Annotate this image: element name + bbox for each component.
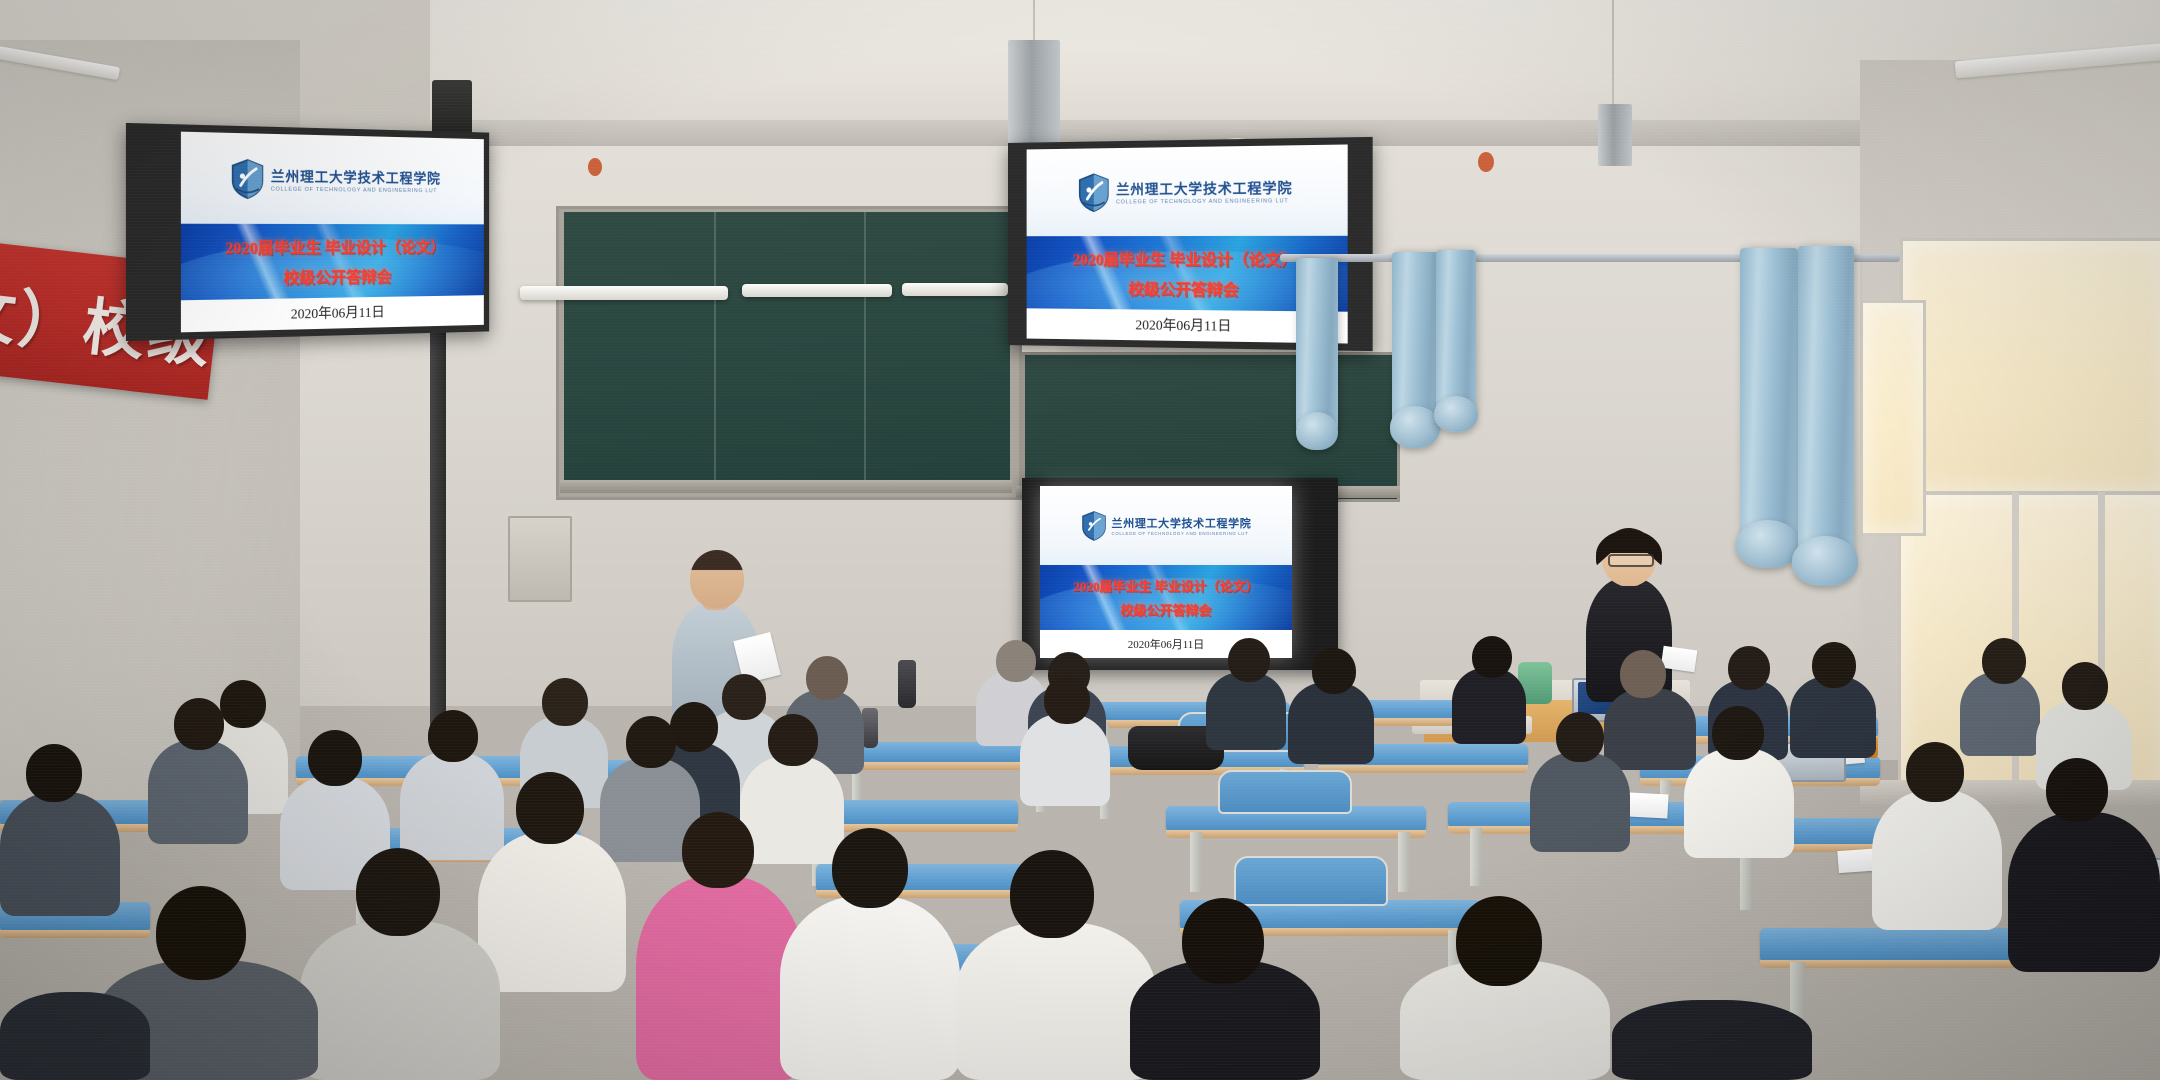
attendee-head [1712, 706, 1764, 760]
curtain-knot [1390, 406, 1440, 448]
attendee-body [1604, 688, 1696, 770]
electrical-panel [508, 516, 572, 602]
mount-wire [1033, 0, 1035, 44]
chair-back [1234, 856, 1388, 906]
attendee-head [308, 730, 362, 786]
wall-speaker [1478, 152, 1494, 172]
desk-leg [1398, 832, 1410, 892]
attendee-head [626, 716, 676, 768]
attendee-head [542, 678, 588, 726]
attendee-head [1620, 650, 1666, 698]
wall-speaker [588, 158, 602, 176]
slide-title-line2: 校级公开答辩会 [1120, 600, 1211, 619]
attendee-head [722, 674, 766, 720]
window-upper-right [1900, 238, 2160, 494]
attendee-body [1020, 714, 1110, 806]
classroom-photo-scene: 文）校级公开 兰州理工大学技术工程学院 COLLEGE OF TECHNOLO [0, 0, 2160, 1080]
attendee-body [1288, 682, 1374, 764]
attendee-head [2046, 758, 2108, 822]
slide-university-en: COLLEGE OF TECHNOLOGY AND ENGINEERING LU… [1112, 531, 1252, 536]
attendee-body [1530, 752, 1630, 852]
glasses-icon [1608, 554, 1654, 567]
slide-title-line2: 校级公开答辩会 [284, 263, 392, 288]
center-projection-screen[interactable]: 兰州理工大学技术工程学院 COLLEGE OF TECHNOLOGY AND E… [1040, 486, 1292, 658]
attendee-body [400, 752, 504, 860]
curtain-knot [1792, 536, 1858, 586]
attendee-head [428, 710, 478, 762]
attendee-head [1906, 742, 1964, 802]
attendee-head [1228, 638, 1270, 682]
slide-title-line1: 2020届毕业生 毕业设计（论文） [225, 234, 445, 259]
attendee-head [1044, 676, 1090, 724]
slide-university-cn: 兰州理工大学技术工程学院 [271, 166, 441, 188]
slide-content: 兰州理工大学技术工程学院 COLLEGE OF TECHNOLOGY AND E… [181, 132, 484, 333]
slide-title-line2: 校级公开答辩会 [1128, 276, 1238, 301]
slide-title-band: 2020届毕业生 毕业设计（论文） 校级公开答辩会 [181, 224, 484, 300]
attendee-body [780, 896, 960, 1080]
slide-title-band: 2020届毕业生 毕业设计（论文） 校级公开答辩会 [1040, 565, 1292, 630]
attendee-body [0, 792, 120, 916]
university-crest-icon [1081, 511, 1107, 541]
staff-papers [1661, 646, 1698, 673]
slide-title-line1: 2020届毕业生 毕业设计（论文） [1073, 576, 1258, 595]
blackboard-light-bar [902, 283, 1008, 296]
attendee-head [1812, 642, 1856, 688]
university-crest-icon [230, 158, 264, 199]
slide-header: 兰州理工大学技术工程学院 COLLEGE OF TECHNOLOGY AND E… [181, 132, 484, 225]
attendee-head [682, 812, 754, 888]
window-curtain[interactable] [1798, 246, 1854, 562]
slide-university-cn: 兰州理工大学技术工程学院 [1112, 515, 1252, 531]
attendee-head [2062, 662, 2108, 710]
attendee-body [1872, 790, 2002, 930]
attendee-head [174, 698, 224, 750]
attendee-head [1010, 850, 1094, 938]
attendee-body [1960, 672, 2040, 756]
attendee-head [26, 744, 82, 802]
left-wall-monitor[interactable]: 兰州理工大学技术工程学院 COLLEGE OF TECHNOLOGY AND E… [126, 123, 489, 341]
window-curtain[interactable] [1296, 258, 1338, 436]
blackboard-light-bar [520, 286, 728, 300]
attendee-head [1312, 648, 1356, 694]
attendee-body [636, 876, 804, 1080]
attendee-body [300, 920, 500, 1080]
attendee-head [806, 656, 848, 700]
attendee-head [1182, 898, 1264, 984]
attendee-head [516, 772, 584, 844]
attendee-body [1684, 748, 1794, 858]
projector-ceiling-mount [1598, 104, 1632, 166]
attendee-body [1452, 668, 1526, 744]
slide-title-line1: 2020届毕业生 毕业设计（论文） [1073, 246, 1297, 271]
attendee-body [148, 740, 248, 844]
attendee-body [478, 832, 626, 992]
slide-date: 2020年06月11日 [1128, 636, 1205, 652]
attendee-body [1790, 676, 1876, 758]
attendee-head [1472, 636, 1512, 678]
slide-header: 兰州理工大学技术工程学院 COLLEGE OF TECHNOLOGY AND E… [1027, 144, 1348, 236]
blackboard [564, 212, 1010, 488]
attendee-body [2008, 812, 2160, 972]
chair-back [1218, 770, 1352, 814]
attendee-head [356, 848, 440, 936]
attendee-head [220, 680, 266, 728]
slide-content: 兰州理工大学技术工程学院 COLLEGE OF TECHNOLOGY AND E… [1040, 486, 1292, 658]
slide-university-en: COLLEGE OF TECHNOLOGY AND ENGINEERING LU… [271, 186, 441, 194]
curtain-knot [1736, 520, 1800, 568]
left-monitor-display: 兰州理工大学技术工程学院 COLLEGE OF TECHNOLOGY AND E… [181, 132, 484, 333]
attendee-head [1728, 646, 1770, 690]
attendee-head [1982, 638, 2026, 684]
window-curtain[interactable] [1392, 252, 1440, 430]
attendee-head [1556, 712, 1604, 762]
slide-date: 2020年06月11日 [1135, 315, 1231, 336]
slide-date: 2020年06月11日 [291, 302, 385, 324]
slide-university-en: COLLEGE OF TECHNOLOGY AND ENGINEERING LU… [1116, 198, 1292, 205]
water-bottle [862, 708, 878, 748]
window-curtain[interactable] [1436, 250, 1476, 416]
attendee-head [670, 702, 718, 752]
attendee-head [768, 714, 818, 766]
window-curtain[interactable] [1740, 248, 1798, 548]
attendee-head [1456, 896, 1542, 986]
presenter-head [690, 550, 744, 608]
attendee-body [1612, 1000, 1812, 1080]
slide-header: 兰州理工大学技术工程学院 COLLEGE OF TECHNOLOGY AND E… [1040, 486, 1292, 565]
curtain-knot [1296, 412, 1338, 450]
attendee-head [832, 828, 908, 908]
curtain-knot [1434, 396, 1478, 432]
chalk-tray [560, 480, 1012, 493]
desk-leg [1190, 832, 1202, 892]
attendee-body [0, 992, 150, 1080]
wall-pipe [430, 316, 446, 736]
slide-university-cn: 兰州理工大学技术工程学院 [1116, 177, 1292, 199]
slide-date-area: 2020年06月11日 [181, 295, 484, 332]
window-far-right [1860, 300, 1926, 536]
pendant-wire [1612, 0, 1614, 108]
attendee-head [996, 640, 1036, 682]
projector-ceiling-mount [1008, 40, 1060, 148]
desk-leg [1470, 828, 1482, 886]
water-bottle [898, 660, 916, 708]
attendee-body [1206, 672, 1286, 750]
attendee-body [740, 756, 844, 864]
attendee-body [956, 922, 1156, 1080]
blackboard-light-bar [742, 284, 892, 297]
university-crest-icon [1077, 172, 1110, 212]
attendee-head [156, 886, 246, 980]
